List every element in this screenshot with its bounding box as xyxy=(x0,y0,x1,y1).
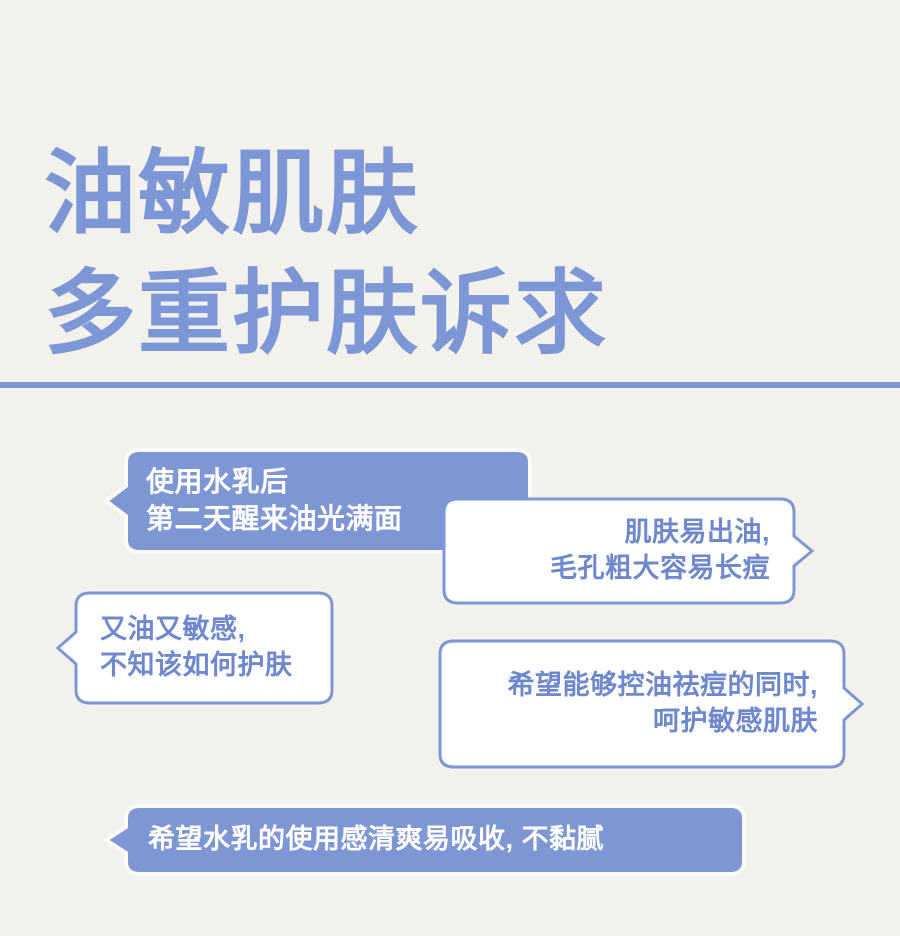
bubble-text: 又油又敏感, 不知该如何护肤 xyxy=(100,612,314,683)
bubble-text: 希望水乳的使用感清爽易吸收, 不黏腻 xyxy=(148,822,724,858)
title-divider-rule xyxy=(0,382,900,388)
speech-bubble-oil-control-care: 希望能够控油祛痘的同时, 呵护敏感肌肤 xyxy=(436,638,866,770)
bubble-text: 使用水乳后 第二天醒来油光满面 xyxy=(146,464,510,538)
header-section: 油敏肌肤 多重护肤诉求 xyxy=(0,0,900,390)
bubble-text: 希望能够控油祛痘的同时, 呵护敏感肌肤 xyxy=(458,668,818,739)
speech-bubble-group: 使用水乳后 第二天醒来油光满面 肌肤易出油, 毛孔粗大容易长痘 又油又敏感, 不… xyxy=(0,390,900,936)
page-title-line-2: 多重护肤诉求 xyxy=(44,268,608,360)
bubble-text: 肌肤易出油, 毛孔粗大容易长痘 xyxy=(462,515,770,586)
page-title-line-1: 油敏肌肤 xyxy=(44,148,420,240)
speech-bubble-texture-preference: 希望水乳的使用感清爽易吸收, 不黏腻 xyxy=(104,804,746,876)
speech-bubble-oily-sensitive: 又油又敏感, 不知该如何护肤 xyxy=(54,590,336,706)
